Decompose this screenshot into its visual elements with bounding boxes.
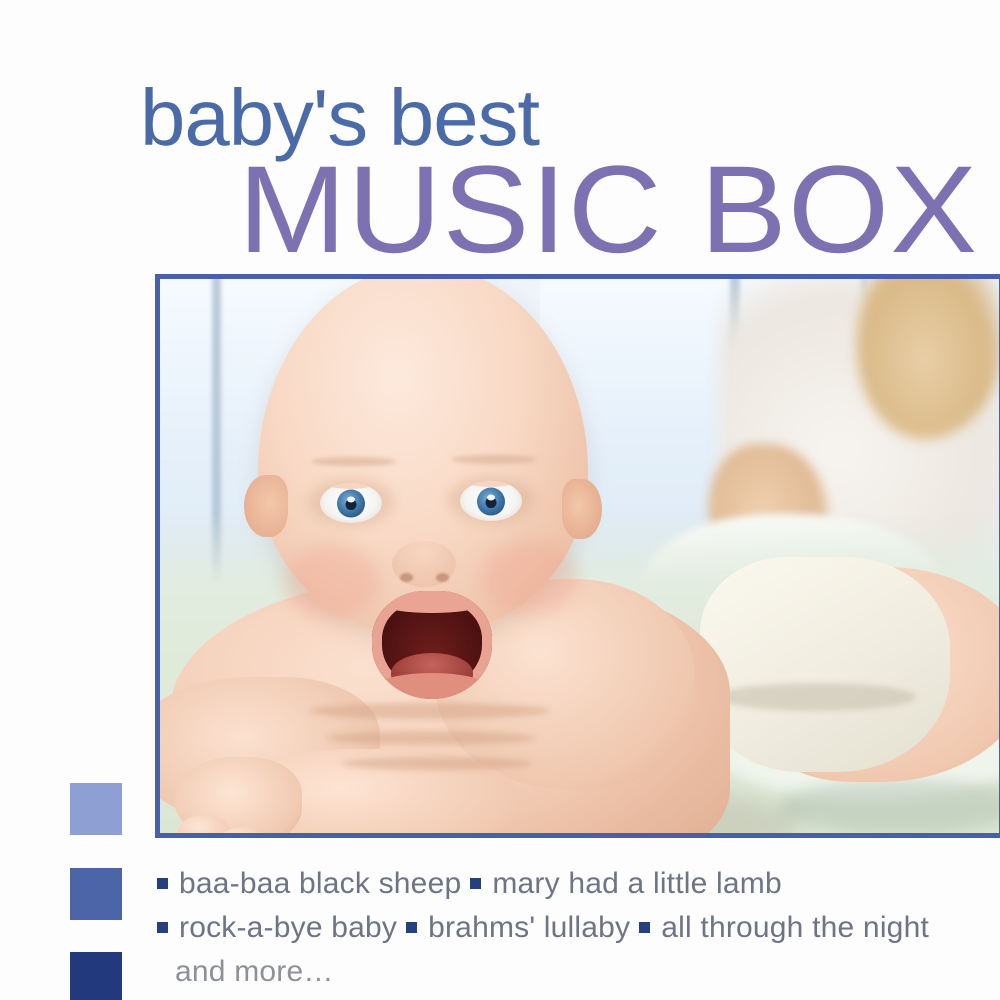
bedding-shadow-2 [780, 779, 999, 833]
baby-upper-lip [372, 591, 492, 613]
baby-iris-right [477, 488, 505, 516]
baby-lower-lip [372, 673, 492, 699]
cover-photo [160, 279, 999, 833]
album-title: MUSIC BOX [238, 148, 978, 272]
baby-chin-crease-2 [326, 731, 536, 745]
baby-eye-glint-right [487, 495, 495, 501]
track-title: mary had a little lamb [492, 867, 782, 900]
baby-eyelid-right [460, 481, 522, 487]
bullet-square-icon [470, 878, 481, 889]
baby-diaper-band [716, 683, 916, 711]
baby-eye-glint-left [347, 497, 355, 503]
baby-open-mouth [372, 591, 492, 699]
bullet-square-icon [406, 922, 417, 933]
baby-eyelid-left [320, 483, 382, 489]
track-title: baa-baa black sheep [179, 867, 461, 900]
baby-chin-crease-1 [310, 703, 550, 719]
bullet-square-icon [157, 878, 168, 889]
baby-nostril-right [436, 573, 449, 582]
color-chip-medium-blue [70, 868, 122, 920]
cover-photo-frame [155, 274, 1000, 838]
bullet-square-icon [639, 922, 650, 933]
tracklist: baa-baa black sheepmary had a little lam… [157, 862, 987, 994]
baby-neck-crease [342, 757, 532, 770]
baby-iris-left [337, 490, 365, 518]
baby-diaper [700, 557, 950, 772]
color-chip-dark-navy [70, 952, 122, 1000]
baby-eye-left [320, 483, 382, 523]
bullet-square-icon [157, 922, 168, 933]
tracklist-line-1: baa-baa black sheepmary had a little lam… [157, 862, 987, 906]
baby-ear-right [562, 479, 602, 539]
color-chip-light-periwinkle [70, 783, 122, 835]
track-title: rock-a-bye baby [179, 911, 397, 944]
baby-ear-left [244, 475, 288, 537]
baby-brow-left [312, 457, 396, 466]
baby-nostril-left [400, 573, 413, 582]
track-title: all through the night [661, 911, 929, 944]
tracklist-more-label: and more… [175, 950, 987, 994]
track-title: brahms' lullaby [428, 911, 630, 944]
tracklist-line-2: rock-a-bye babybrahms' lullabyall throug… [157, 906, 987, 950]
baby-brow-right [452, 455, 536, 464]
baby-eye-right [460, 481, 522, 521]
baby-cheek-left [284, 545, 380, 619]
album-cover: baby's best MUSIC BOX [0, 0, 1000, 1000]
baby-cheek-right [482, 541, 578, 615]
